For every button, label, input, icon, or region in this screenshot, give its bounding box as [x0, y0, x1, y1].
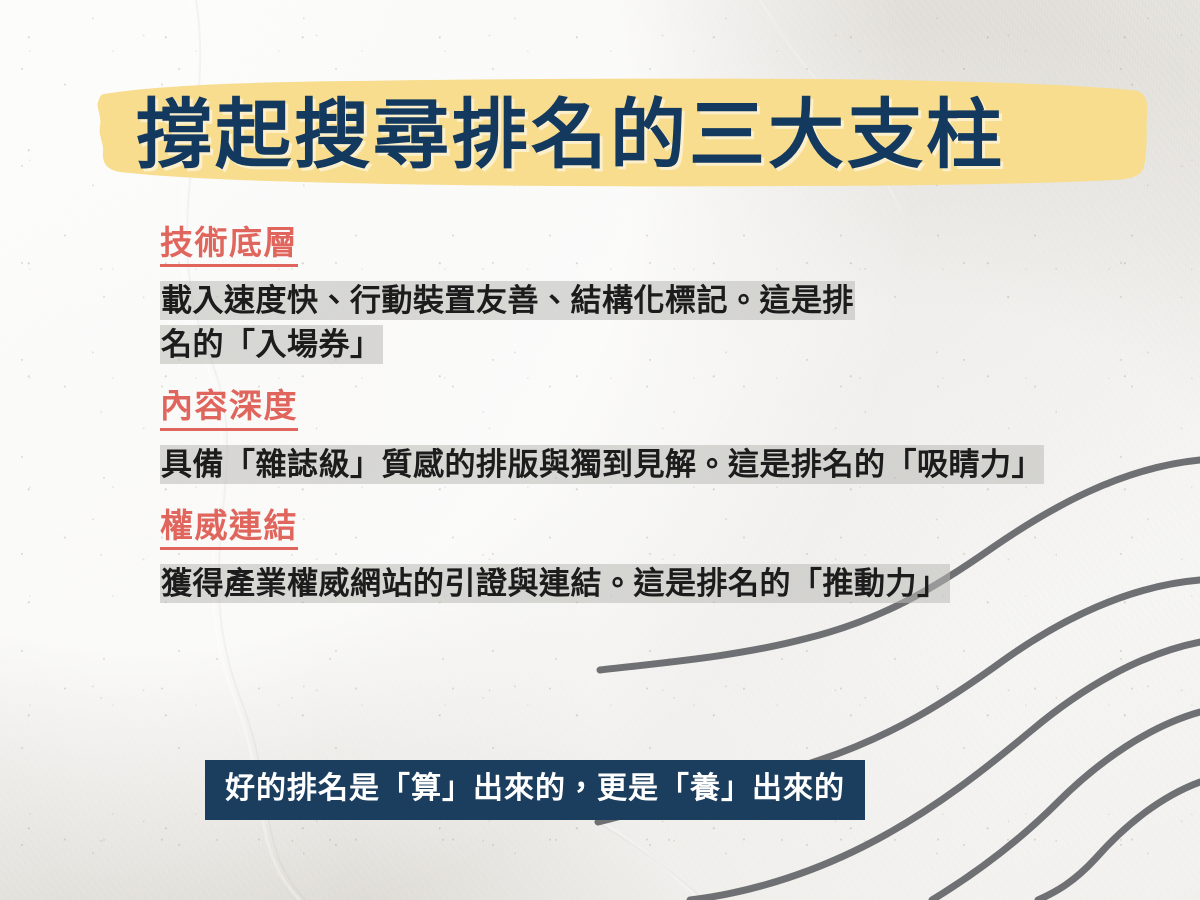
footer-callout-banner: 好的排名是「算」出來的，更是「養」出來的: [205, 760, 865, 820]
section-body-authority-links-text: 獲得產業權威網站的引證與連結。這是排名的「推動力」: [160, 564, 950, 603]
slide-title-container: 撐起搜尋排名的三大支柱: [92, 68, 1150, 188]
section-block-content-depth: 內容深度 具備「雜誌級」質感的排版與獨到見解。這是排名的「吸睛力」: [160, 385, 1160, 486]
section-body-content-depth-text: 具備「雜誌級」質感的排版與獨到見解。這是排名的「吸睛力」: [160, 445, 1044, 484]
slide-canvas: 撐起搜尋排名的三大支柱 技術底層 載入速度快、行動裝置友善、結構化標記。這是排名…: [0, 0, 1200, 900]
section-heading-authority-links: 權威連結: [160, 505, 298, 550]
page-title: 撐起搜尋排名的三大支柱: [136, 73, 1005, 183]
content-sections: 技術底層 載入速度快、行動裝置友善、結構化標記。這是排名的「入場券」 內容深度 …: [160, 222, 1160, 606]
section-body-content-depth: 具備「雜誌級」質感的排版與獨到見解。這是排名的「吸睛力」: [160, 443, 1065, 487]
section-body-technical-text: 載入速度快、行動裝置友善、結構化標記。這是排名的「入場券」: [160, 281, 855, 364]
section-block-technical: 技術底層 載入速度快、行動裝置友善、結構化標記。這是排名的「入場券」: [160, 222, 1160, 367]
section-heading-content-depth: 內容深度: [160, 385, 298, 430]
section-body-authority-links: 獲得產業權威網站的引證與連結。這是排名的「推動力」: [160, 562, 1160, 606]
section-block-authority-links: 權威連結 獲得產業權威網站的引證與連結。這是排名的「推動力」: [160, 505, 1160, 606]
section-heading-technical: 技術底層: [160, 222, 298, 267]
section-body-technical: 載入速度快、行動裝置友善、結構化標記。這是排名的「入場券」: [160, 279, 860, 367]
